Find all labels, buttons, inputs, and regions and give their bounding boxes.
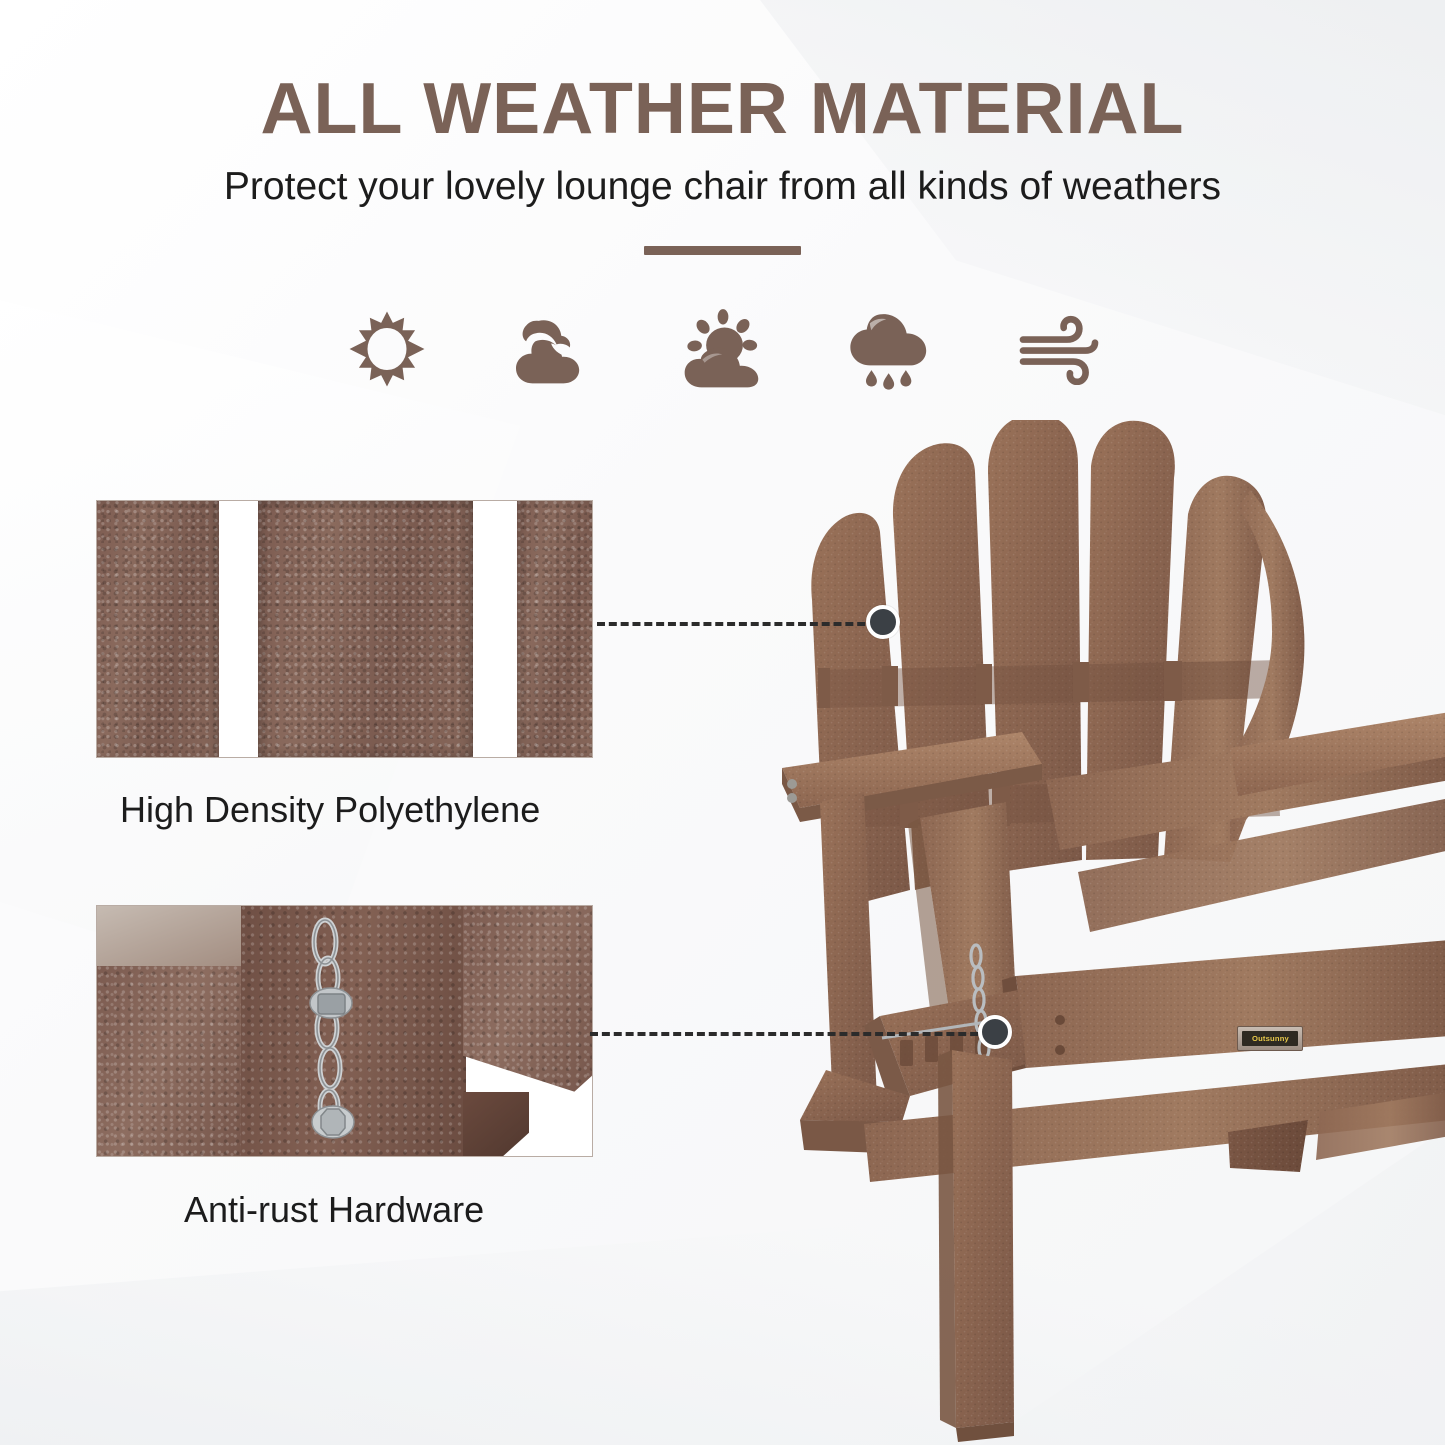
hdpe-slat [258,501,473,757]
header: ALL WEATHER MATERIAL Protect your lovely… [0,0,1445,255]
hdpe-slat [517,501,593,757]
feature-card-hdpe: High Density Polyethylene [96,500,593,828]
hardware-photo [96,905,593,1157]
partly-sunny-icon [674,300,772,398]
cloudy-icon [506,300,604,398]
brand-badge: Outsunny [1237,1026,1303,1051]
hdpe-slat [97,501,219,757]
rain-icon [842,300,940,398]
chair-front-leg [938,1050,1014,1442]
chair-seat-side-rail [1002,940,1445,1072]
wind-icon [1010,300,1108,398]
callout-dot-hardware [978,1015,1012,1049]
hardware-right-plank [463,906,593,1098]
callout-line-hdpe [597,622,877,626]
hdpe-texture-photo [96,500,593,758]
hardware-left-plank [97,966,243,1157]
callout-line-hardware [590,1032,990,1036]
feature-caption-hdpe: High Density Polyethylene [120,792,593,828]
page-subtitle: Protect your lovely lounge chair from al… [0,167,1445,206]
header-divider [644,246,801,255]
feature-card-hardware: Anti-rust Hardware [96,905,593,1228]
page-title: ALL WEATHER MATERIAL [0,73,1445,145]
hardware-chain-icon [301,916,365,1146]
sun-icon [338,300,436,398]
callout-dot-hdpe [866,605,900,639]
brand-badge-inner: Outsunny [1242,1031,1298,1046]
feature-caption-hardware: Anti-rust Hardware [184,1192,593,1228]
brand-badge-label: Outsunny [1252,1034,1289,1043]
adirondack-chair-image [760,420,1445,1445]
weather-icon-row [0,300,1445,398]
